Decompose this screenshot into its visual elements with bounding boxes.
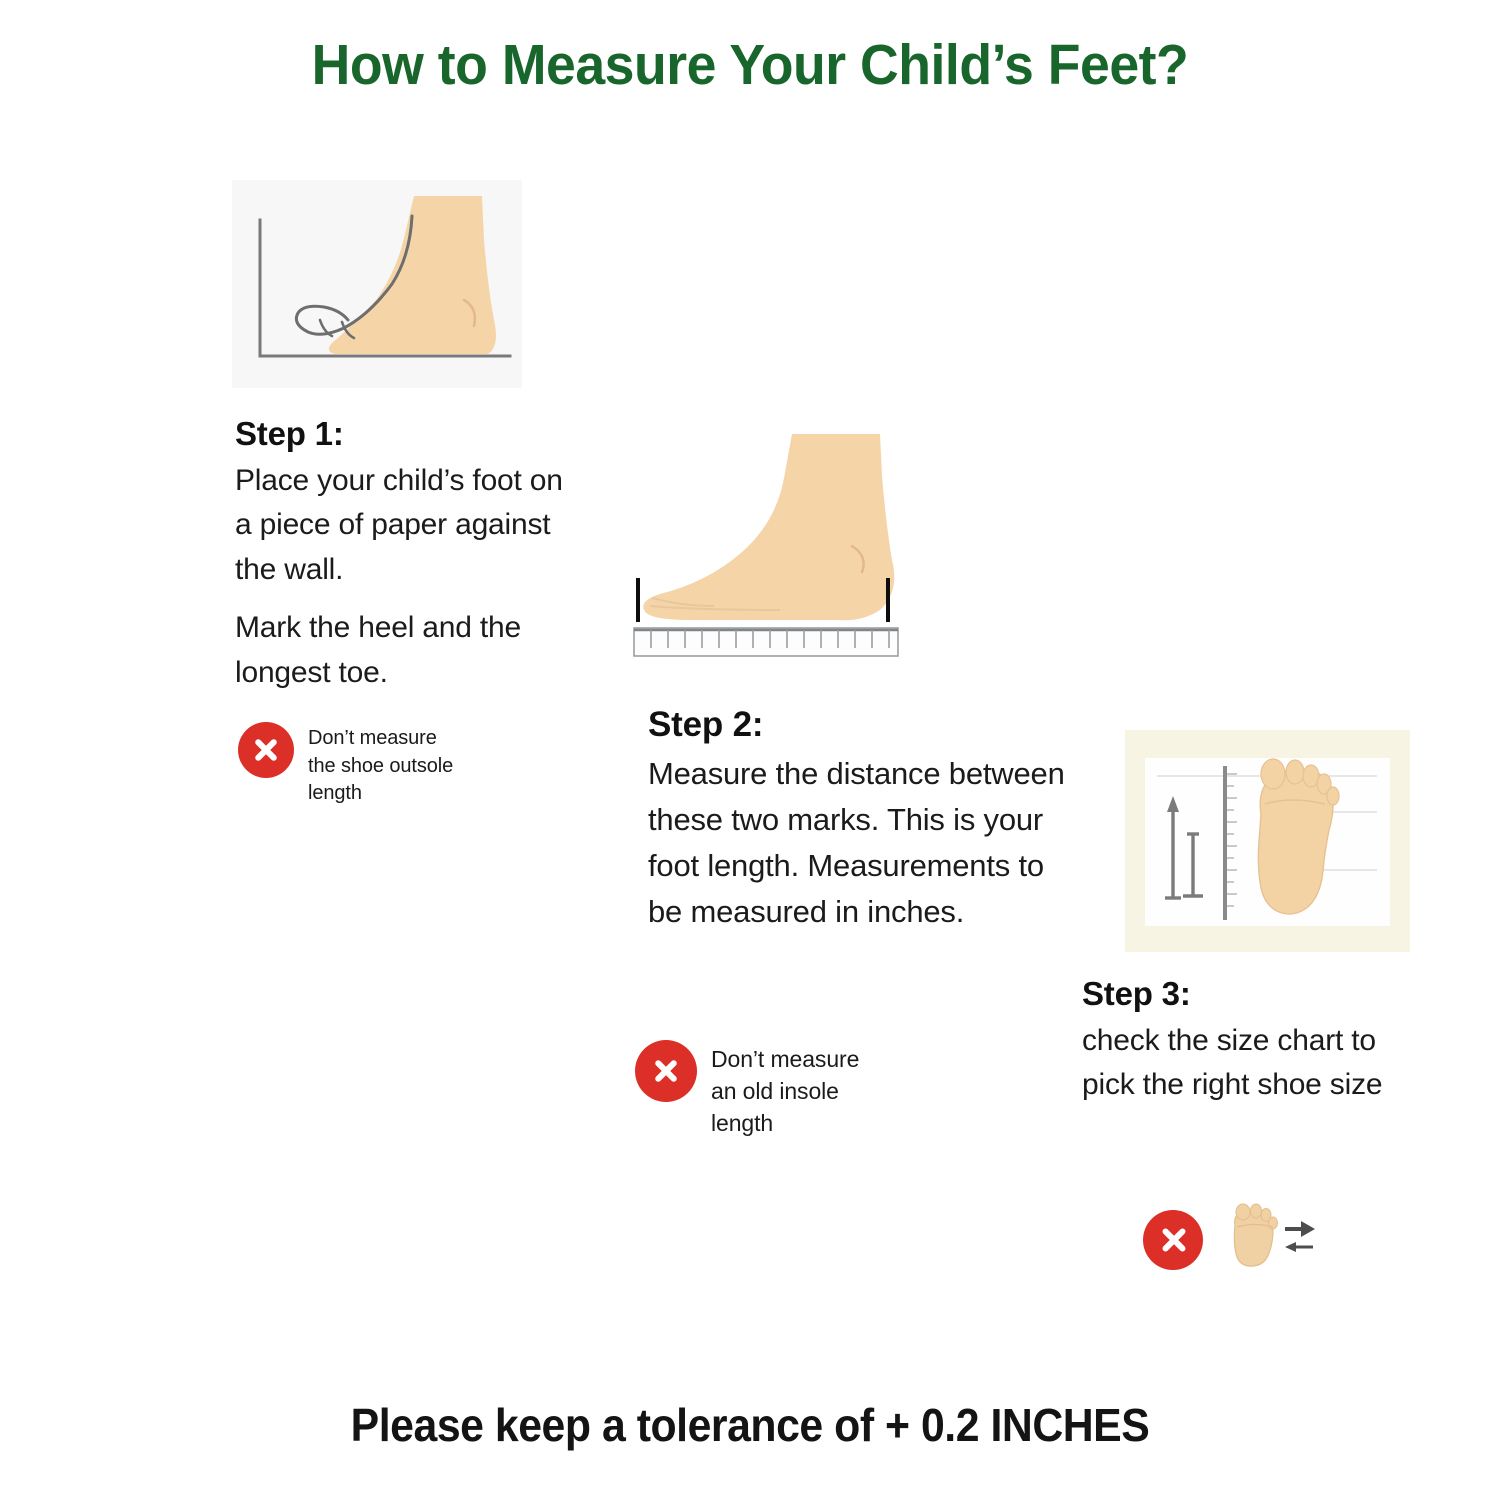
step-2-warning: Don’t measure an old insole length <box>635 1040 935 1140</box>
step-2-warning-text: Don’t measure an old insole length <box>711 1040 859 1140</box>
toe-big <box>1261 759 1285 789</box>
arrow-right-icon <box>1285 1221 1315 1237</box>
step-2-body: Measure the distance between these two m… <box>648 751 1078 935</box>
step-1-warning-line-3: length <box>308 780 453 808</box>
ruler-body <box>634 628 898 656</box>
toe-big <box>1236 1204 1250 1220</box>
step-3-heading: Step 3: <box>1082 975 1412 1013</box>
step-1-body: Place your child’s foot on a piece of pa… <box>235 459 565 695</box>
foot-side-shape <box>643 434 894 620</box>
step-1-warning-text: Don’t measure the shoe outsole length <box>308 722 453 808</box>
footer-tolerance-note: Please keep a tolerance of + 0.2 INCHES <box>53 1398 1448 1452</box>
step-2-heading: Step 2: <box>648 705 1078 745</box>
step-3-warning <box>1143 1203 1319 1276</box>
foot-sole-with-opposing-arrows-icon <box>1219 1203 1319 1276</box>
step3-illustration-foot-sole-chart <box>1125 730 1410 952</box>
step-1-paragraph-2: Mark the heel and the longest toe. <box>235 606 565 695</box>
step-3-body: check the size chart to pick the right s… <box>1082 1019 1412 1108</box>
toe-5 <box>1327 787 1339 805</box>
red-x-circle-icon <box>238 722 294 778</box>
step-1-heading: Step 1: <box>235 415 565 453</box>
step-1-paragraph-1: Place your child’s foot on a piece of pa… <box>235 459 565 592</box>
step-2-warning-line-2: an old insole <box>711 1075 859 1107</box>
step-3-paragraph-1: check the size chart to pick the right s… <box>1082 1019 1412 1108</box>
step-2-warning-line-3: length <box>711 1107 859 1139</box>
toe-4 <box>1269 1217 1278 1229</box>
step-1-warning-line-2: the shoe outsole <box>308 753 453 781</box>
step-1-warning-line-1: Don’t measure <box>308 725 453 753</box>
step-2-block: Step 2: Measure the distance between the… <box>648 705 1078 935</box>
arrow-left-icon <box>1285 1242 1313 1252</box>
step-1-block: Step 1: Place your child’s foot on a pie… <box>235 415 565 695</box>
step2-illustration-foot-on-ruler <box>630 420 950 665</box>
toe-2 <box>1286 760 1304 784</box>
step-2-paragraph-1: Measure the distance between these two m… <box>648 751 1078 935</box>
red-x-circle-icon <box>1143 1210 1203 1270</box>
toe-2 <box>1251 1204 1262 1218</box>
red-x-circle-icon <box>635 1040 697 1102</box>
step1-illustration-foot-against-wall <box>232 180 522 388</box>
step-3-block: Step 3: check the size chart to pick the… <box>1082 975 1412 1108</box>
page-title: How to Measure Your Child’s Feet? <box>45 32 1455 98</box>
step-2-warning-line-1: Don’t measure <box>711 1043 859 1075</box>
step-1-warning: Don’t measure the shoe outsole length <box>238 722 488 808</box>
